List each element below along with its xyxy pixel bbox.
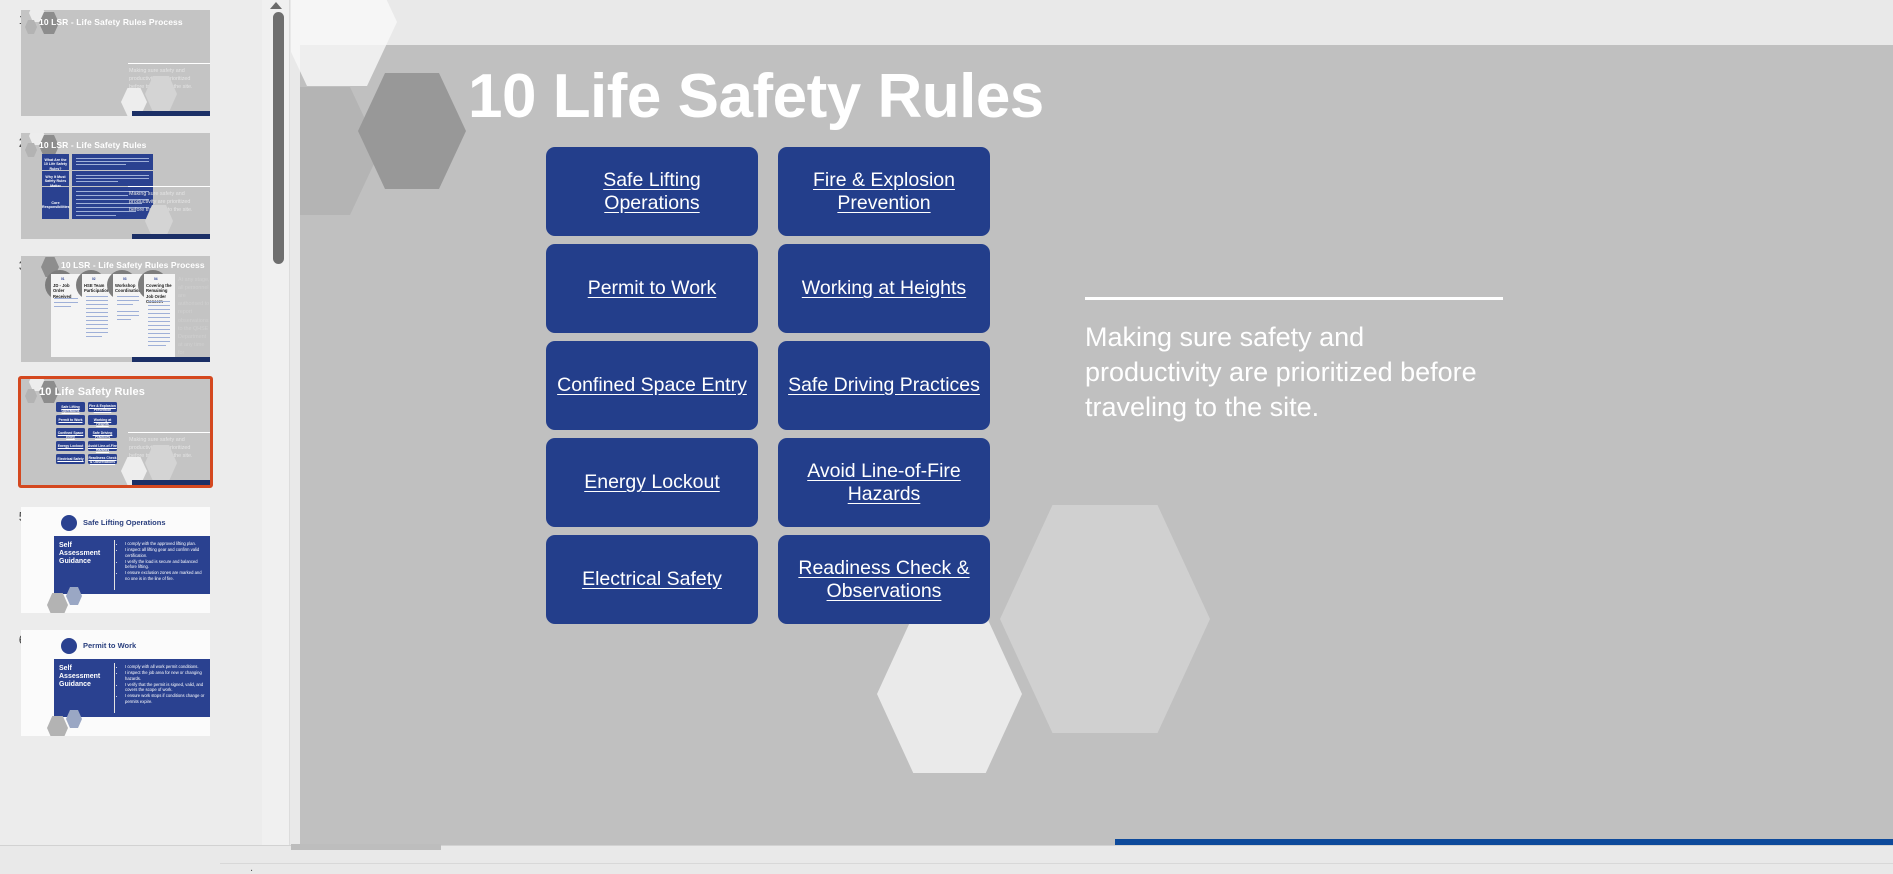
thumbnail-canvas[interactable]: 10 LSR - Life Safety Rules Process Makin… xyxy=(21,10,210,116)
thumbnail-canvas[interactable]: Permit to Work Self Assessment Guidance … xyxy=(21,630,210,736)
thumbnail-canvas[interactable]: 10 LSR - Life Safety Rules Process 01 JD… xyxy=(21,256,210,362)
thumbnail-button-label: Readiness Check & Observations xyxy=(88,456,117,464)
thumbnail-row-label: What Are the 10 Life Safety Rules? xyxy=(42,158,69,171)
rule-button-readiness-check-observations[interactable]: Readiness Check & Observations xyxy=(778,535,990,624)
thumbnail-title: 10 LSR - Life Safety Rules xyxy=(39,140,146,150)
column-tag: 03 xyxy=(123,277,127,281)
slide-thumbnail-rail[interactable]: 1 10 LSR - Life Safety Rules Process Mak… xyxy=(0,0,262,874)
thumbnail-canvas[interactable]: Safe Lifting Operations Self Assessment … xyxy=(21,507,210,613)
bullet-item: I verify that the permit is signed, vali… xyxy=(125,682,206,693)
bullet-item: I inspect the job area for new or changi… xyxy=(125,670,206,681)
bottom-marker: . xyxy=(250,862,253,874)
rule-button-label: Permit to Work xyxy=(580,277,725,300)
thumbnail-title: 10 LSR - Life Safety Rules Process xyxy=(61,260,205,270)
thumbnail-button-label: Working at Heights xyxy=(88,418,117,426)
thumbnail-button-label: Permit to Work xyxy=(56,418,85,422)
bottom-divider xyxy=(220,863,1893,864)
thumbnail-button-label: Safe Lifting Operations xyxy=(56,405,85,413)
decor-hexagon-5 xyxy=(877,615,1022,773)
thumbnail-title: Safe Lifting Operations xyxy=(83,518,166,527)
rule-button-label: Electrical Safety xyxy=(574,568,730,591)
rule-button-safe-driving-practices[interactable]: Safe Driving Practices xyxy=(778,341,990,430)
rule-button-label: Energy Lockout xyxy=(576,471,728,494)
decor-hexagon-4 xyxy=(1000,505,1210,733)
bullet-item: I verify the load is secure and balanced… xyxy=(125,559,206,570)
note-divider-rule xyxy=(1085,297,1503,300)
thumbnail-canvas[interactable]: 10 Life Safety Rules Safe Lifting Operat… xyxy=(21,379,210,485)
thumbnail-row-label: Core Responsibilities xyxy=(42,201,69,210)
rule-button-avoid-line-of-fire-hazards[interactable]: Avoid Line-of-Fire Hazards xyxy=(778,438,990,527)
slide-title: 10 Life Safety Rules xyxy=(468,61,1044,132)
rule-button-label: Safe Driving Practices xyxy=(780,374,988,397)
rule-button-working-at-heights[interactable]: Working at Heights xyxy=(778,244,990,333)
clipboard-icon xyxy=(61,638,77,654)
thumbnail-title: 10 Life Safety Rules xyxy=(39,386,145,398)
thumbnail-button-label: Fire & Explosion Prevention xyxy=(88,404,117,412)
horizontal-scrollbar-thumb[interactable] xyxy=(291,844,441,850)
column-tag: 02 xyxy=(92,277,96,281)
thumbnail-note: At any stage, all personnel are authoris… xyxy=(178,276,210,362)
rule-button-label: Confined Space Entry xyxy=(549,374,755,397)
active-slide[interactable]: 10 Life Safety Rules Safe Lifting Operat… xyxy=(300,45,1893,845)
bottom-status-strip: . xyxy=(0,845,1893,874)
thumbnail-button-label: Confined Space Entry xyxy=(56,431,85,439)
slide-canvas[interactable]: 10 Life Safety Rules Safe Lifting Operat… xyxy=(291,0,1893,874)
rule-button-permit-to-work[interactable]: Permit to Work xyxy=(546,244,758,333)
slide-note-text: Making sure safety and productivity are … xyxy=(1085,320,1505,424)
column-tag: 01 xyxy=(61,277,65,281)
thumbnail-button-label: Electrical Safety xyxy=(56,457,85,461)
lifting-hook-icon xyxy=(61,515,77,531)
rule-button-fire-explosion-prevention[interactable]: Fire & Explosion Prevention xyxy=(778,147,990,236)
bullet-item: I comply with all work permit conditions… xyxy=(125,664,206,670)
bullet-item: I ensure exclusion zones are marked and … xyxy=(125,570,206,581)
scrollbar-thumb[interactable] xyxy=(273,12,284,264)
rule-button-safe-lifting-operations[interactable]: Safe Lifting Operations xyxy=(546,147,758,236)
thumbnail-button-label: Safe Driving Practices xyxy=(88,431,117,439)
thumbnail-rail-scrollbar[interactable] xyxy=(262,0,290,874)
thumbnail-canvas[interactable]: 10 LSR - Life Safety Rules What Are the … xyxy=(21,133,210,239)
rule-button-label: Working at Heights xyxy=(794,277,974,300)
triangle-up-icon[interactable] xyxy=(270,2,282,9)
panel-label: Self Assessment Guidance xyxy=(59,542,114,565)
rule-button-energy-lockout[interactable]: Energy Lockout xyxy=(546,438,758,527)
panel-label: Self Assessment Guidance xyxy=(59,665,114,688)
bullet-item: I ensure work stops if conditions change… xyxy=(125,693,206,704)
rule-button-electrical-safety[interactable]: Electrical Safety xyxy=(546,535,758,624)
rule-button-label: Fire & Explosion Prevention xyxy=(778,169,990,214)
bullet-item: I inspect all lifting gear and confirm v… xyxy=(125,547,206,558)
rule-button-label: Safe Lifting Operations xyxy=(546,169,758,214)
slide-note-block: Making sure safety and productivity are … xyxy=(1085,297,1505,424)
thumbnail-title: Permit to Work xyxy=(83,641,136,650)
thumbnail-title: 10 LSR - Life Safety Rules Process xyxy=(39,17,183,27)
decor-hexagon-3 xyxy=(358,73,466,189)
presentation-editor: 1 10 LSR - Life Safety Rules Process Mak… xyxy=(0,0,1893,874)
rule-button-label: Avoid Line-of-Fire Hazards xyxy=(778,460,990,505)
rule-button-label: Readiness Check & Observations xyxy=(778,557,990,602)
thumbnail-button-label: Avoid Line-of-Fire Hazards xyxy=(88,444,117,452)
bullet-item: I comply with the approved lifting plan. xyxy=(125,541,206,547)
rule-button-confined-space-entry[interactable]: Confined Space Entry xyxy=(546,341,758,430)
thumbnail-button-label: Energy Lockout xyxy=(56,444,85,448)
column-tag: 04 xyxy=(154,277,158,281)
